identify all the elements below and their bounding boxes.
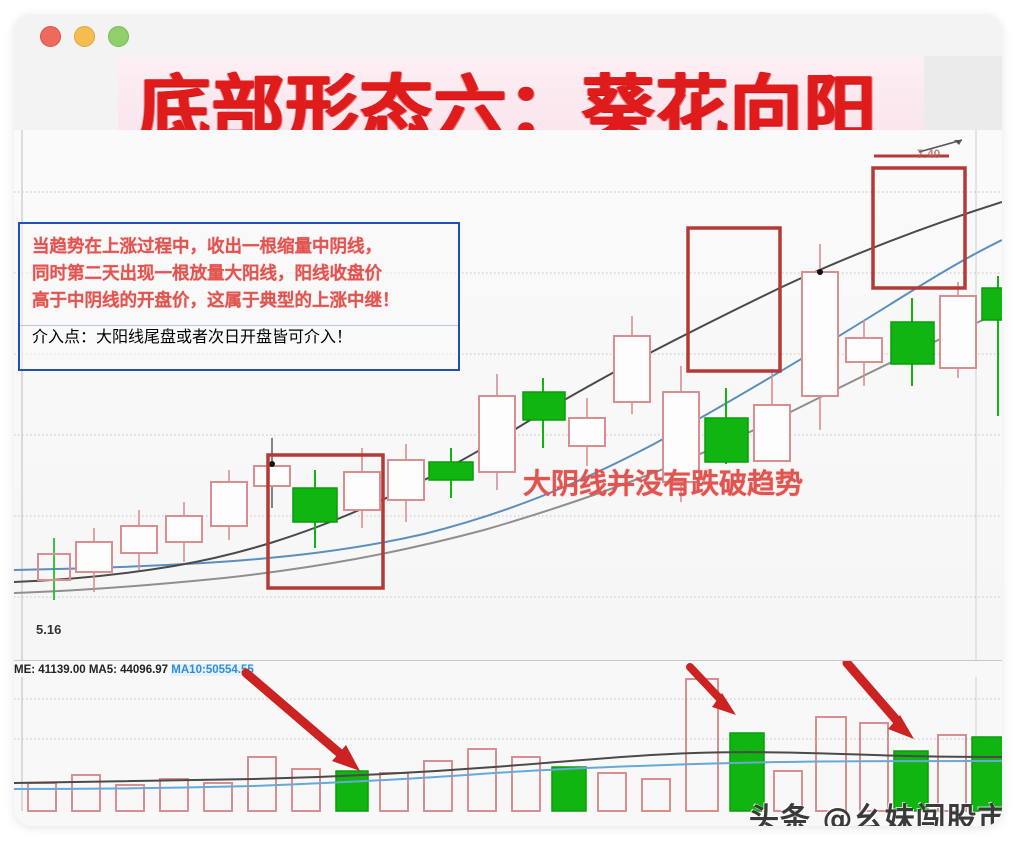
volume-arrow-2 xyxy=(690,667,736,715)
window-titlebar xyxy=(14,14,1002,56)
title-banner: 底部形态六：葵花向阳 xyxy=(14,56,1002,130)
candle xyxy=(940,282,976,378)
price-chart-svg xyxy=(14,130,1002,660)
candle xyxy=(121,510,157,570)
minimize-icon[interactable] xyxy=(74,26,95,47)
watermark-text: 头条 @幺妹闯股市 xyxy=(749,794,1002,826)
volume-bar xyxy=(468,749,496,811)
volume-bar xyxy=(160,779,188,811)
candle xyxy=(982,276,1002,416)
candle xyxy=(479,374,515,490)
volume-bar xyxy=(248,757,276,811)
maximize-icon[interactable] xyxy=(108,26,129,47)
traffic-light-group xyxy=(40,26,129,47)
price-chart-panel: 当趋势在上涨过程中，收出一根缩量中阴线， 同时第二天出现一根放量大阳线，阳线收盘… xyxy=(14,130,1002,660)
candle xyxy=(569,398,605,466)
volume-bar-green xyxy=(552,767,586,811)
pattern-box-2 xyxy=(688,228,780,371)
entry-point-text: 介入点：大阳线尾盘或者次日开盘皆可介入！ xyxy=(20,315,458,347)
screenshot-root: 底部形态六：葵花向阳 xyxy=(0,0,1016,844)
volume-bar xyxy=(28,783,56,811)
volume-bar xyxy=(292,769,320,811)
candle xyxy=(388,444,424,522)
app-window: 底部形态六：葵花向阳 xyxy=(14,14,1002,826)
candle-highlight-green xyxy=(293,470,337,548)
candle-highlight-green xyxy=(705,388,748,464)
candle xyxy=(254,438,290,508)
volume-arrow-3 xyxy=(847,663,914,739)
explanation-body: 当趋势在上涨过程中，收出一根缩量中阴线， 同时第二天出现一根放量大阳线，阳线收盘… xyxy=(20,224,458,315)
candle xyxy=(802,244,838,430)
explanation-line-3: 高于中阴线的开盘价，这属于典型的上涨中继！ xyxy=(32,288,458,315)
volume-arrows xyxy=(246,663,914,771)
price-label-high: 7.40 xyxy=(917,147,940,161)
candle xyxy=(211,470,247,540)
explanation-line-2: 同时第二天出现一根放量大阳线，阳线收盘价 xyxy=(32,261,458,288)
page-title: 底部形态六：葵花向阳 xyxy=(14,56,1002,130)
price-label-low: 5.16 xyxy=(36,622,61,637)
volume-bar xyxy=(424,761,452,811)
explanation-divider xyxy=(20,325,458,326)
candle xyxy=(614,316,650,414)
explanation-box: 当趋势在上涨过程中，收出一根缩量中阴线， 同时第二天出现一根放量大阳线，阳线收盘… xyxy=(18,222,460,371)
pattern-box-3 xyxy=(873,168,965,288)
candle-highlight-green xyxy=(891,298,934,386)
volume-bar xyxy=(598,773,626,811)
volume-gridlines xyxy=(14,699,1002,739)
volume-bar xyxy=(642,779,670,811)
candle xyxy=(166,502,202,562)
volume-bar xyxy=(72,775,100,811)
close-icon[interactable] xyxy=(40,26,61,47)
candle xyxy=(429,448,473,498)
candle xyxy=(76,528,112,592)
explanation-line-1: 当趋势在上涨过程中，收出一根缩量中阴线， xyxy=(32,234,458,261)
chart-annotation-note: 大阴线并没有跌破趋势 xyxy=(523,462,803,502)
candle xyxy=(846,320,882,386)
candle xyxy=(523,378,565,448)
